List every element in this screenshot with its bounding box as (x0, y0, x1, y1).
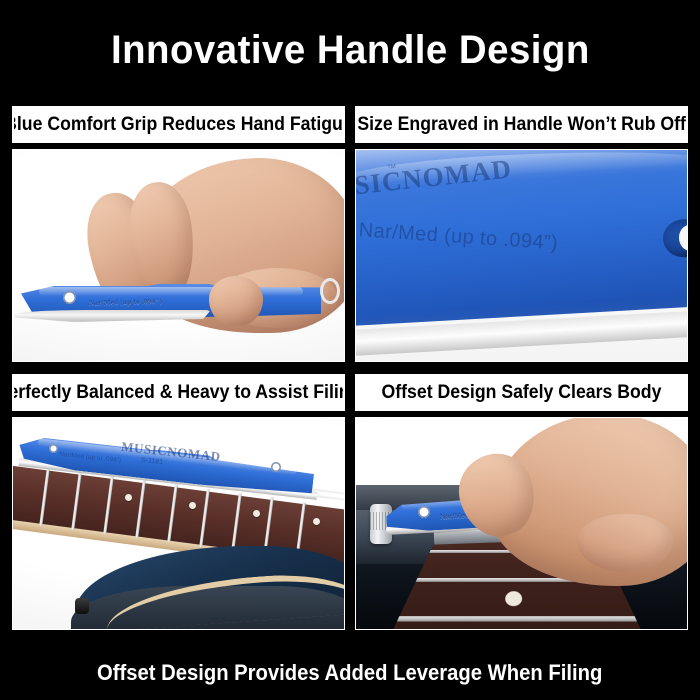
infographic-page: Innovative Handle Design Blue Comfort Gr… (0, 0, 700, 700)
panel-caption-text: Perfectly Balanced & Heavy to Assist Fil… (12, 382, 345, 403)
panel-caption-text: Blue Comfort Grip Reduces Hand Fatigue (12, 114, 345, 135)
page-title: Innovative Handle Design (0, 22, 700, 78)
panel-caption-bar: Blue Comfort Grip Reduces Hand Fatigue (12, 106, 345, 143)
handle-hanging-hole (418, 506, 430, 518)
handle-size-engraving: Nar/Med (up to .094”) (358, 219, 559, 255)
panel-caption-text: Size Engraved in Handle Won’t Rub Off (357, 114, 686, 135)
feature-panel-grid: Blue Comfort Grip Reduces Hand Fatigue N… (12, 106, 688, 630)
panel-photo-tool-on-neck: MUSICNOMAD S-1181 Nar/Med (up to .094") (12, 417, 345, 630)
panel-photo-macro-engraving: MUSICNOMAD ™ Nar/Med (up to .094”) (355, 149, 688, 362)
panel-photo-hand-gripping-tool: Nar/Med (up to .094") (12, 149, 345, 362)
panel-photo-filing-at-nut: Nar/Med (up to .094") MUSICNOMAD (355, 417, 688, 630)
panel-caption-bar: Offset Design Safely Clears Body (355, 374, 688, 411)
trademark-symbol: ™ (386, 163, 397, 175)
fretboard-inlay-dot (313, 518, 320, 525)
handle-hanging-hole (49, 444, 58, 453)
panel-caption-bar: Size Engraved in Handle Won’t Rub Off (355, 106, 688, 143)
feature-panel-offset-design: Offset Design Safely Clears Body (355, 374, 688, 630)
handle-highlight (39, 287, 303, 296)
page-title-text: Innovative Handle Design (111, 28, 590, 72)
fretboard-inlay-dot (253, 510, 260, 517)
strap-button (75, 598, 89, 614)
handle-rear-hole (271, 462, 281, 472)
feature-panel-size-engraved: Size Engraved in Handle Won’t Rub Off MU… (355, 106, 688, 362)
panel-caption-text: Offset Design Safely Clears Body (382, 382, 662, 403)
fretboard-inlay-dot (125, 494, 132, 501)
finger-ring (320, 278, 340, 304)
fretboard-inlay-dot (189, 502, 196, 509)
panel-caption-bar: Perfectly Balanced & Heavy to Assist Fil… (12, 374, 345, 411)
handle-hanging-hole (662, 218, 688, 258)
tool-blue-handle: MUSICNOMAD ™ Nar/Med (up to .094”) (355, 149, 688, 328)
hand-thumb (209, 276, 263, 326)
feature-panel-balanced-heavy: Perfectly Balanced & Heavy to Assist Fil… (12, 374, 345, 630)
feature-panel-comfort-grip: Blue Comfort Grip Reduces Hand Fatigue N… (12, 106, 345, 362)
guitar-fret (397, 616, 637, 621)
footer-caption: Offset Design Provides Added Leverage Wh… (0, 660, 700, 686)
handle-hanging-hole (63, 291, 76, 304)
footer-caption-text: Offset Design Provides Added Leverage Wh… (97, 660, 602, 686)
fretboard-inlay-dot (505, 591, 522, 606)
